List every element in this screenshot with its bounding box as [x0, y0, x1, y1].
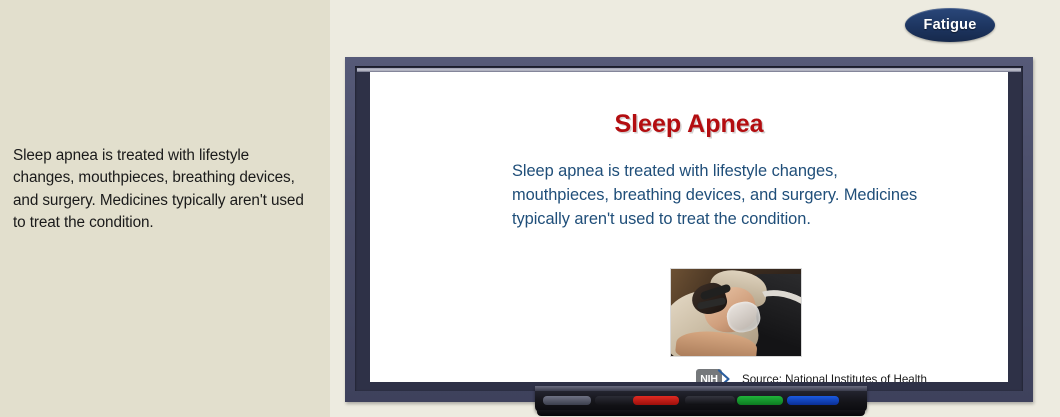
- whiteboard: Sleep Apnea Sleep apnea is treated with …: [345, 57, 1033, 402]
- tray-base: [537, 410, 865, 416]
- marker-red[interactable]: [633, 396, 679, 405]
- whiteboard-marker-tray[interactable]: [535, 386, 867, 417]
- tray-lip: [535, 386, 867, 391]
- tray-body: [535, 386, 867, 412]
- source-attribution: NIH Source: National Institutes of Healt…: [696, 369, 927, 382]
- nih-logo-text: NIH: [700, 373, 717, 382]
- transcript-panel: Sleep apnea is treated with lifestyle ch…: [0, 0, 330, 417]
- eraser[interactable]: [685, 396, 735, 405]
- cpap-sleeper-photo: [670, 268, 802, 357]
- nih-chevron-icon: [717, 369, 732, 382]
- slide-title: Sleep Apnea: [370, 110, 1008, 139]
- slide-body-text: Sleep apnea is treated with lifestyle ch…: [512, 159, 932, 231]
- screenshot-stage: Sleep apnea is treated with lifestyle ch…: [0, 0, 1060, 417]
- marker-blue[interactable]: [787, 396, 839, 405]
- presentation-slide: Sleep Apnea Sleep apnea is treated with …: [370, 72, 1008, 382]
- source-credit-text: Source: National Institutes of Health: [742, 373, 927, 383]
- marker-green[interactable]: [737, 396, 783, 405]
- nih-logo-icon: NIH: [696, 369, 732, 382]
- topic-badge-fatigue[interactable]: Fatigue: [905, 8, 995, 42]
- transcript-text: Sleep apnea is treated with lifestyle ch…: [13, 145, 313, 235]
- topic-badge-label: Fatigue: [924, 17, 977, 33]
- marker-white[interactable]: [543, 396, 591, 405]
